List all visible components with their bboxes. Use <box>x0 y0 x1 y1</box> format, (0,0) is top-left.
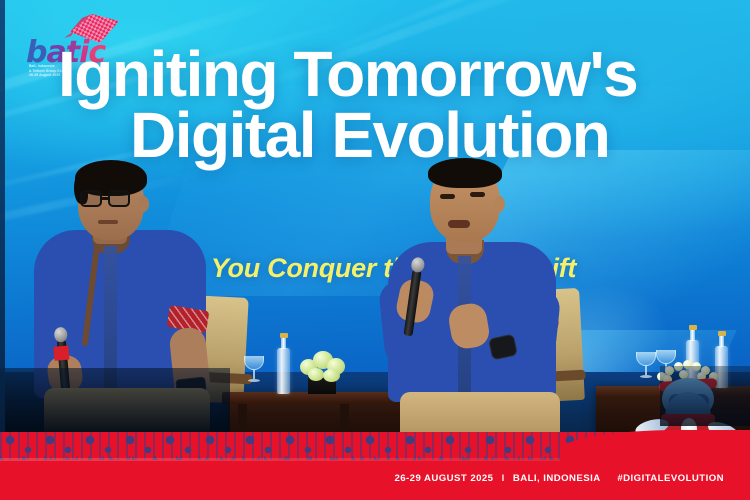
headline-line-1: Igniting Tomorrow's <box>58 44 750 105</box>
red-carpet: 26-29 AUGUST 2025 I BALI, INDONESIA #DIG… <box>0 432 750 500</box>
water-bottle-1 <box>277 348 290 394</box>
carpet-batik-ornament <box>0 432 750 460</box>
speaker-right <box>372 158 592 440</box>
speaker-right-mouth <box>448 220 470 228</box>
carpet-edge <box>0 458 750 461</box>
frame-edge-left <box>0 0 5 432</box>
conference-stage-photo: batic Bali, Indonesia A Telkom Group Eve… <box>0 0 750 500</box>
flower-arrangement <box>294 349 350 394</box>
event-location: BALI, INDONESIA <box>513 473 600 484</box>
event-hashtag: #DIGITALEVOLUTION <box>603 473 724 484</box>
stage-shadow-left <box>0 368 230 432</box>
speaker-left-mouth <box>98 220 118 224</box>
event-footer-text: 26-29 AUGUST 2025 I BALI, INDONESIA #DIG… <box>394 473 724 484</box>
speaker-left-glasses <box>80 190 142 210</box>
footer-separator: I <box>497 473 510 484</box>
screen-headline: Igniting Tomorrow's Digital Evolution <box>58 44 750 167</box>
speaker-right-hair <box>428 158 502 188</box>
stage-shadow-right <box>660 366 750 426</box>
speaker-right-ear <box>494 196 505 212</box>
event-dates: 26-29 AUGUST 2025 <box>394 473 493 484</box>
speaker-right-eye-right <box>470 192 485 197</box>
speaker-right-eye-left <box>440 194 455 199</box>
